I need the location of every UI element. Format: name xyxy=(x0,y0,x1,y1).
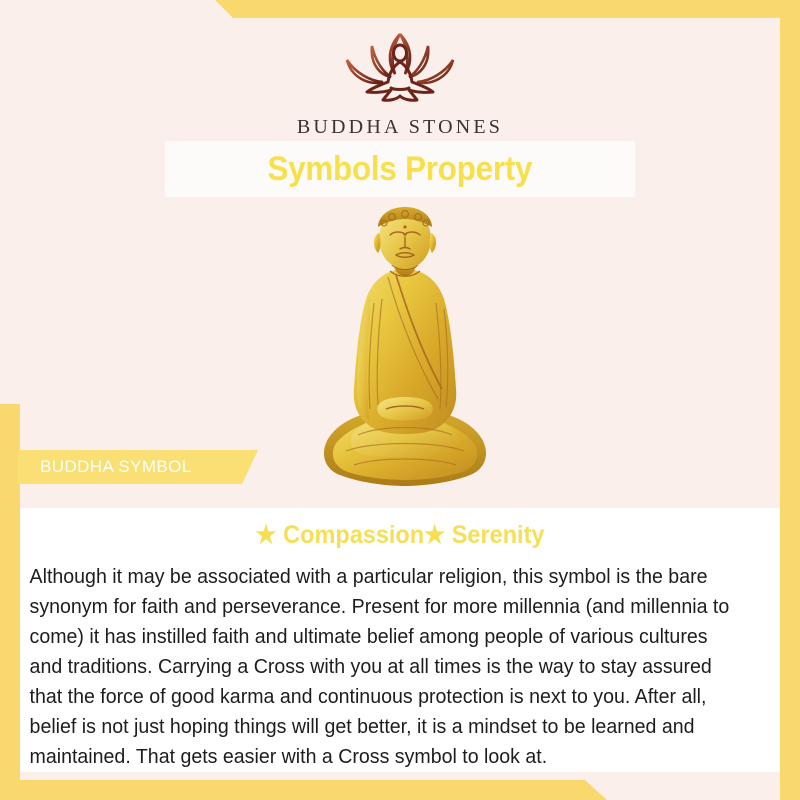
section-banner: BUDDHA SYMBOL xyxy=(18,450,258,484)
body-paragraph: Although it may be associated with a par… xyxy=(20,550,746,772)
promo-poster: BUDDHA STONES Symbols Property xyxy=(0,0,800,800)
decorative-frame-left xyxy=(0,404,20,800)
content-card: ★ Compassion★ Serenity Although it may b… xyxy=(20,508,780,772)
brand-header: BUDDHA STONES xyxy=(0,24,800,139)
keyword-heading: ★ Compassion★ Serenity xyxy=(43,508,757,550)
decorative-frame-top xyxy=(0,0,800,18)
title-banner: Symbols Property xyxy=(165,141,635,197)
seated-golden-buddha-meditation-icon xyxy=(310,203,500,495)
lotus-meditation-figure-icon xyxy=(325,24,475,112)
decorative-frame-bottom xyxy=(0,780,800,800)
page-title: Symbols Property xyxy=(268,150,533,189)
section-banner-label: BUDDHA SYMBOL xyxy=(18,457,192,477)
brand-name: BUDDHA STONES xyxy=(0,116,800,139)
